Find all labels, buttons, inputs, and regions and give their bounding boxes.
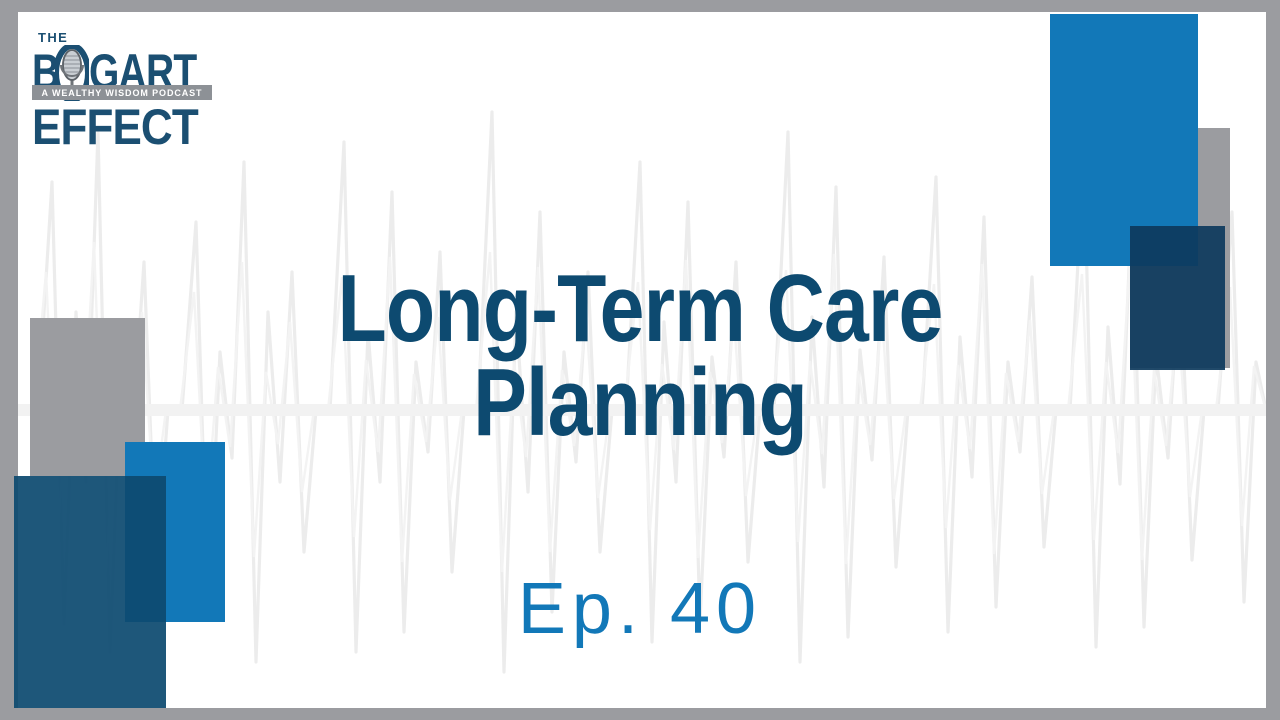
episode-title-line-2: Planning xyxy=(102,356,1177,450)
podcast-logo: THE B xyxy=(32,30,212,156)
podcast-episode-cover: THE B xyxy=(0,0,1280,720)
logo-the-text: THE xyxy=(38,30,68,45)
episode-title: Long-Term Care Planning xyxy=(0,262,1280,450)
episode-title-line-1: Long-Term Care xyxy=(102,262,1177,356)
episode-number-label: Ep. 40 xyxy=(0,568,1280,650)
logo-effect-text: EFFECT xyxy=(32,102,198,152)
logo-tagline-bar: A WEALTHY WISDOM PODCAST xyxy=(32,85,212,100)
logo-tagline-text: A WEALTHY WISDOM PODCAST xyxy=(42,88,203,98)
